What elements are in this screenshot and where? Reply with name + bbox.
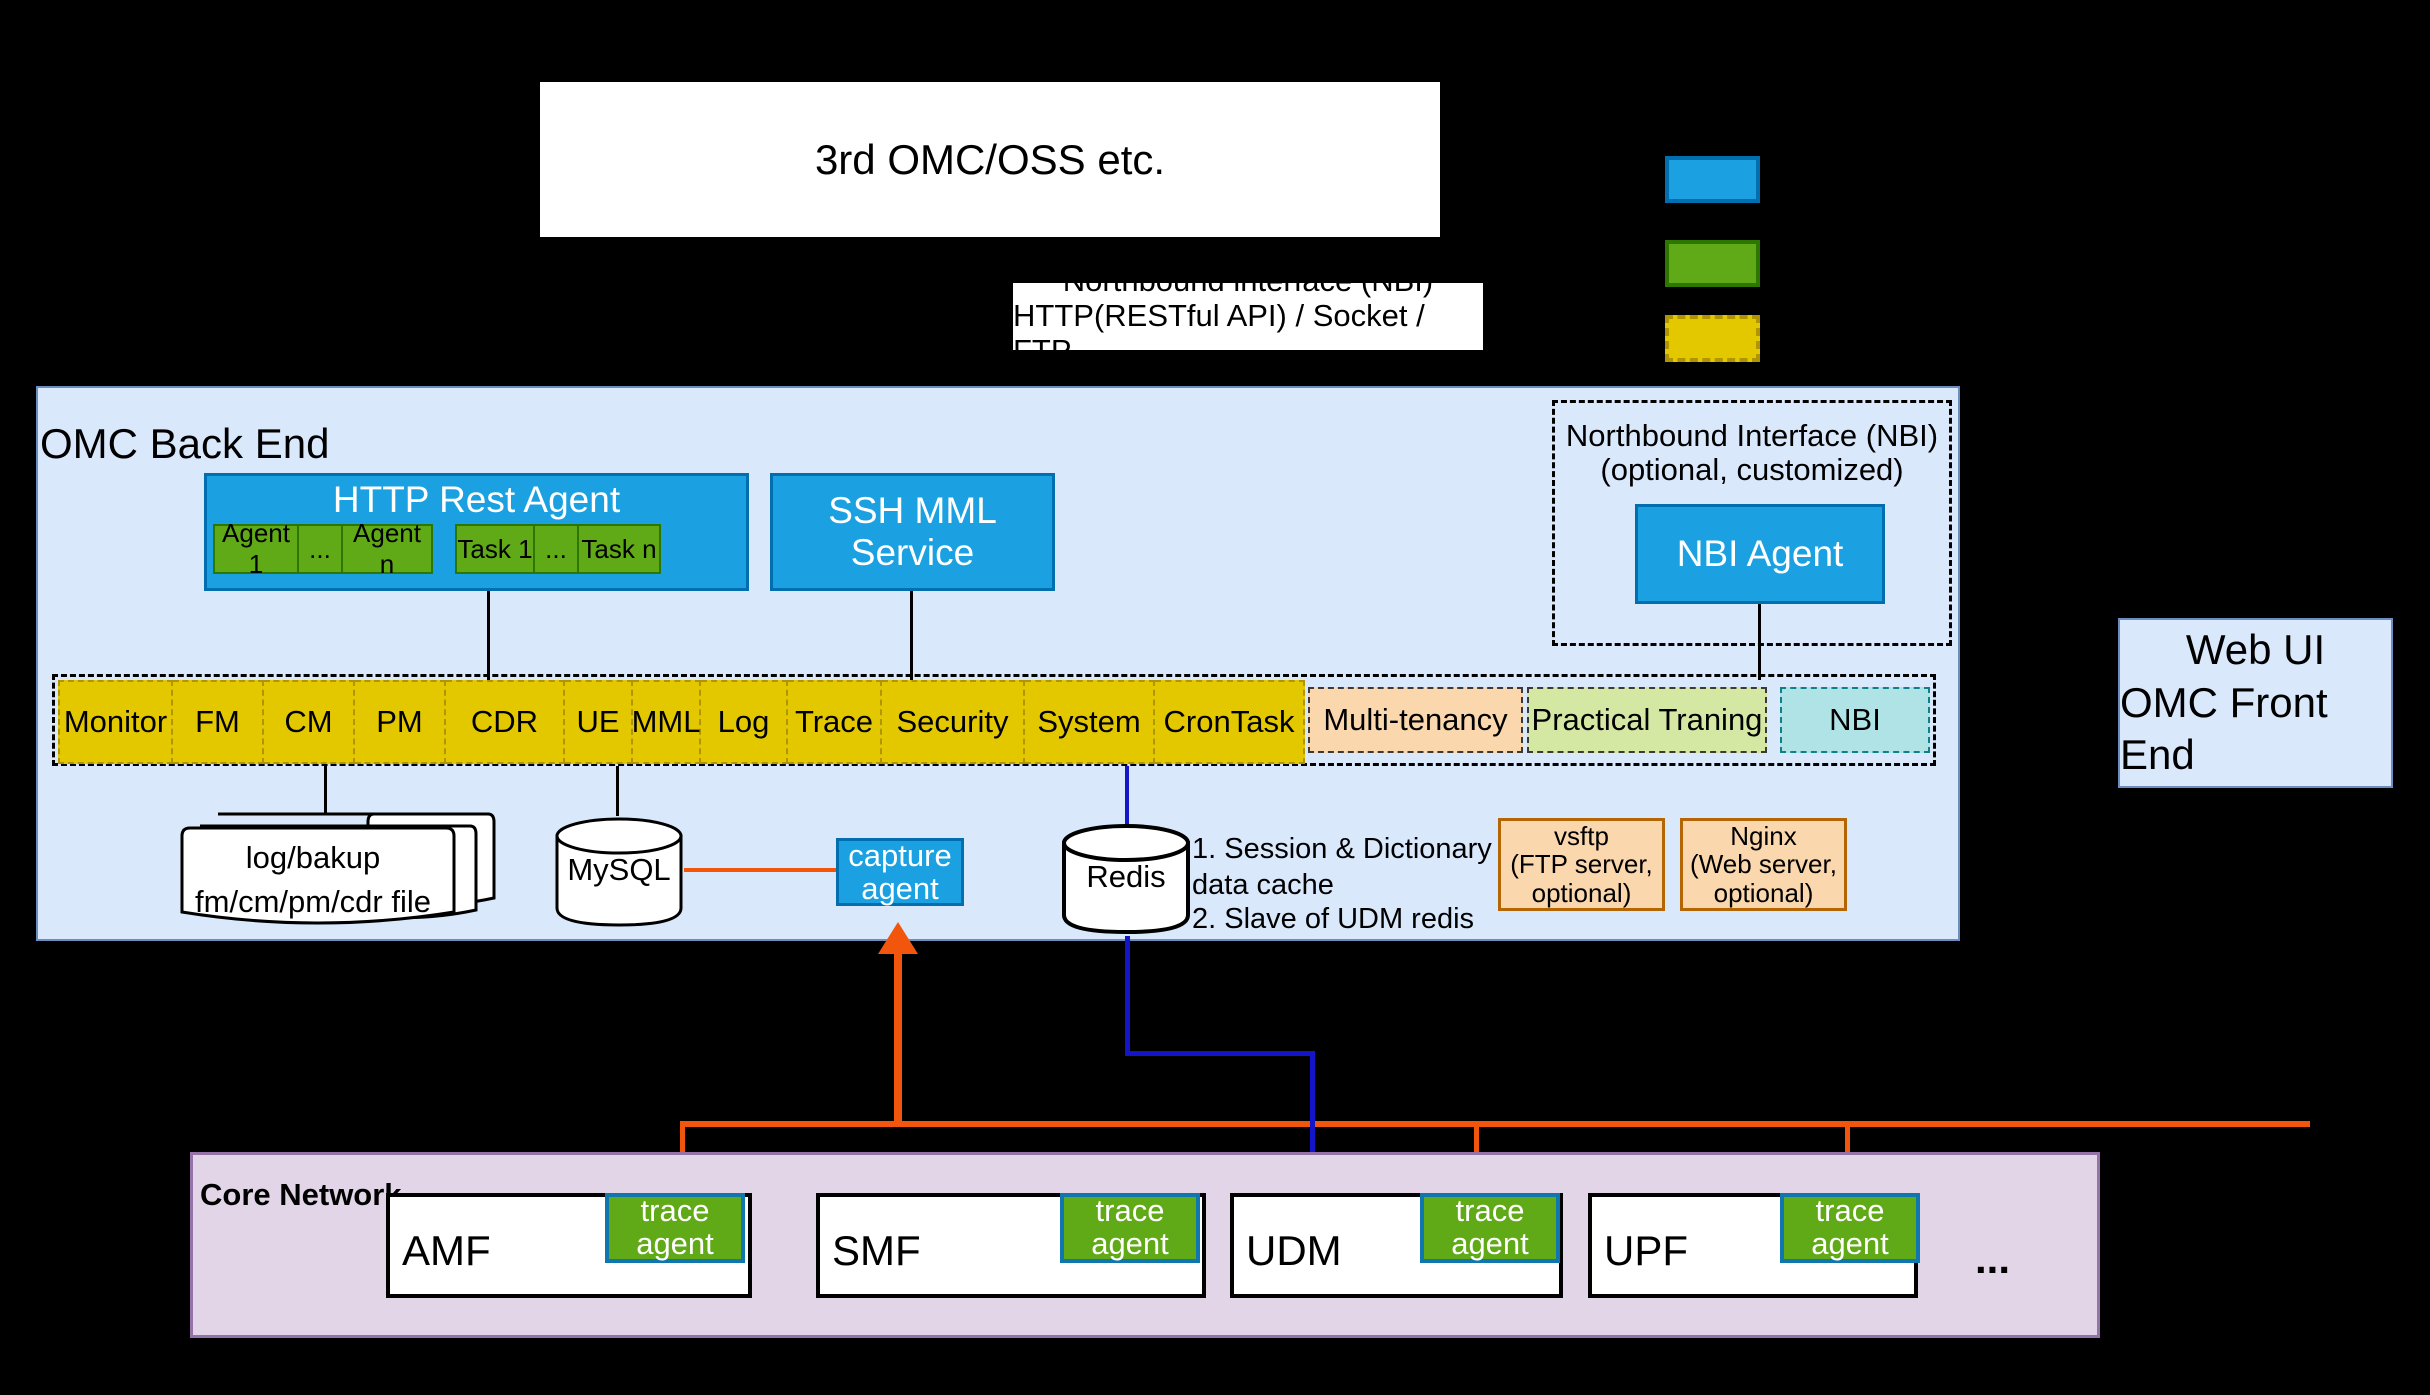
nbi-agent-label: NBI Agent [1677,533,1844,575]
trace-agent-udm-line1: trace [1456,1195,1525,1228]
nginx-line2: (Web server, [1690,850,1837,879]
module-log[interactable]: Log [701,680,788,764]
orange-arrow-head [878,922,918,954]
http-rest-agent-box[interactable]: HTTP Rest Agent Agent 1 ... Agent n Task… [204,473,749,591]
redis-note-line1: 1. Session & Dictionary [1192,833,1522,866]
redis-note-line2: data cache [1192,869,1522,902]
connector-http-rest-agent-to-modules [487,591,490,680]
core-network-ellipsis: ... [1975,1235,2055,1283]
trace-agent-smf[interactable]: trace agent [1060,1193,1200,1263]
capture-agent-line1: capture [848,839,951,872]
trace-agent-udm-line2: agent [1451,1228,1529,1261]
nbi-interface-line2: HTTP(RESTful API) / Socket / FTP [1013,299,1483,368]
module-fm[interactable]: FM [173,680,264,764]
legend-blue-swatch [1665,156,1760,203]
nbi-agent-box[interactable]: NBI Agent [1635,504,1885,604]
connector-ssh-mml-to-modules [910,591,913,680]
module-practical-training[interactable]: Practical Traning [1527,687,1767,753]
module-monitor[interactable]: Monitor [58,680,173,764]
nbi-group-title-line1: Northbound Interface (NBI) [1552,418,1952,454]
module-trace[interactable]: Trace [788,680,882,764]
cn-node-amf-label: AMF [402,1227,491,1275]
module-mml[interactable]: MML [633,680,701,764]
connector-third-party-to-nbi [990,237,993,282]
blue-bus-horizontal [1125,1051,1315,1056]
omc-front-end-line1: Web UI [2186,624,2325,677]
redis-label: Redis [1060,862,1192,892]
trace-agent-amf[interactable]: trace agent [605,1193,745,1263]
trace-agent-upf[interactable]: trace agent [1780,1193,1920,1263]
third-party-omc-label: 3rd OMC/OSS etc. [815,136,1165,184]
module-nbi[interactable]: NBI [1780,687,1930,753]
mysql-label: MySQL [554,855,684,885]
module-crontask[interactable]: CronTask [1155,680,1305,764]
task-chip-1[interactable]: Task 1 [455,524,535,574]
task-chip-ellipsis: ... [535,524,579,574]
vsftp-server-box: vsftp (FTP server, optional) [1498,818,1665,911]
vsftp-line1: vsftp [1554,822,1609,851]
nginx-server-box: Nginx (Web server, optional) [1680,818,1847,911]
core-modules-group: Monitor FM CM PM CDR UE MML Log Trace Se… [58,680,1305,760]
trace-agent-amf-line1: trace [641,1195,710,1228]
trace-agent-amf-line2: agent [636,1228,714,1261]
omc-front-end-line2: OMC Front End [2120,677,2391,782]
trace-agent-upf-line2: agent [1811,1228,1889,1261]
connector-modules-to-mysql [616,766,619,816]
orange-arrow-shaft [894,950,902,1125]
third-party-omc-box: 3rd OMC/OSS etc. [540,82,1440,237]
http-rest-agent-title: HTTP Rest Agent [207,476,746,524]
trace-agent-smf-line1: trace [1096,1195,1165,1228]
module-security[interactable]: Security [882,680,1025,764]
cn-node-udm-label: UDM [1246,1227,1342,1275]
trace-agent-udm[interactable]: trace agent [1420,1193,1560,1263]
vsftp-line3: optional) [1532,879,1632,908]
legend-green-swatch [1665,240,1760,287]
vsftp-line2: (FTP server, [1510,850,1653,879]
agent-chip-n[interactable]: Agent n [343,524,433,574]
module-ue[interactable]: UE [565,680,633,764]
connector-nbi-agent-to-modules [1758,604,1761,680]
blue-drop-from-redis [1125,936,1130,1054]
agent-chip-ellipsis: ... [299,524,343,574]
connector-nbi-to-backend [990,350,993,386]
nbi-interface-label: Northbound interface (NBI) HTTP(RESTful … [1013,283,1483,350]
task-chip-n[interactable]: Task n [579,524,661,574]
module-cm[interactable]: CM [264,680,355,764]
trace-agent-upf-line1: trace [1816,1195,1885,1228]
nginx-line1: Nginx [1730,822,1796,851]
ssh-mml-service-box[interactable]: SSH MML Service [770,473,1055,591]
connector-modules-to-redis [1125,766,1129,828]
nginx-line3: optional) [1714,879,1814,908]
module-cdr[interactable]: CDR [446,680,565,764]
agent-chip-1[interactable]: Agent 1 [213,524,299,574]
nbi-group-title-line2: (optional, customized) [1552,452,1952,488]
nbi-interface-line1: Northbound interface (NBI) [1063,264,1433,299]
omc-front-end-box: Web UI OMC Front End [2118,618,2393,788]
file-store-line1: log/bakup [178,840,448,876]
file-store-line2: fm/cm/pm/cdr file [178,884,448,920]
legend-yellow-swatch [1665,315,1760,362]
module-system[interactable]: System [1025,680,1155,764]
cn-node-smf-label: SMF [832,1227,921,1275]
orange-bus-horizontal [680,1121,2310,1127]
capture-agent-box[interactable]: capture agent [836,838,964,906]
cn-node-upf-label: UPF [1604,1227,1688,1275]
trace-agent-smf-line2: agent [1091,1228,1169,1261]
capture-agent-line2: agent [861,872,939,905]
module-multi-tenancy[interactable]: Multi-tenancy [1308,687,1523,753]
module-pm[interactable]: PM [355,680,446,764]
link-mysql-to-capture-agent [684,868,836,872]
ssh-mml-service-label: SSH MML Service [773,490,1052,574]
redis-note-line3: 2. Slave of UDM redis DB [1192,903,1522,969]
omc-back-end-title: OMC Back End [40,420,460,460]
